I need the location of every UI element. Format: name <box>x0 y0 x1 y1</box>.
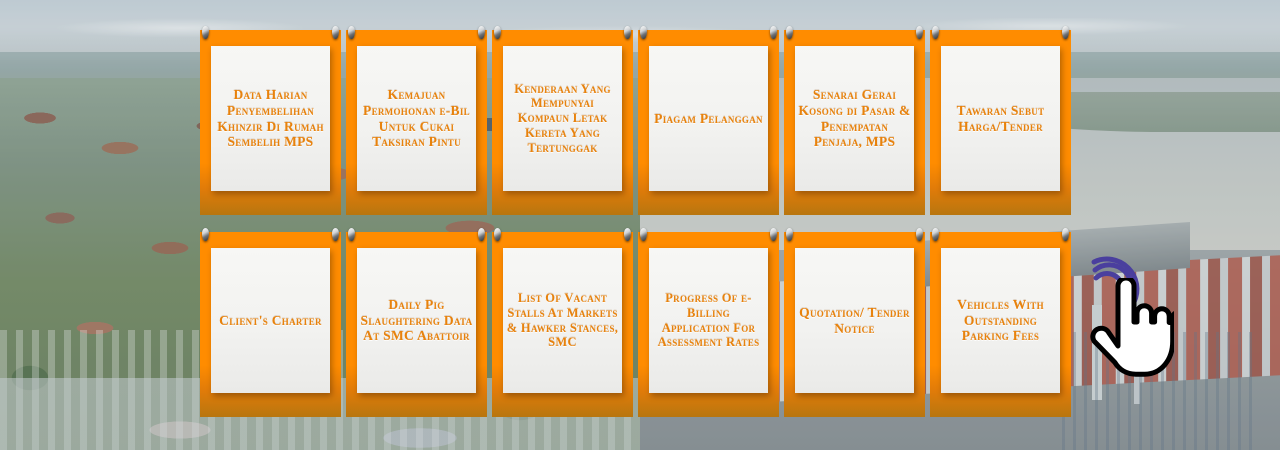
card-title: List Of Vacant Stalls At Markets & Hawke… <box>506 291 619 350</box>
service-card-3[interactable]: Kenderaan Yang Mempunyai Kompaun Letak K… <box>492 30 633 215</box>
pin-icon <box>332 26 339 39</box>
pin-icon <box>932 26 939 39</box>
card-title: Kemajuan Permohonan e-Bil Untuk Cukai Ta… <box>360 87 473 151</box>
pin-icon <box>478 228 485 241</box>
pin-icon <box>624 26 631 39</box>
card-paper: Data Harian Penyembelihan Khinzir Di Rum… <box>211 46 330 191</box>
pin-icon <box>640 228 647 241</box>
service-card-8[interactable]: Daily Pig Slaughtering Data At SMC Abatt… <box>346 232 487 417</box>
service-card-12[interactable]: Vehicles With Outstanding Parking Fees <box>930 232 1071 417</box>
card-paper: Senarai Gerai Kosong di Pasar & Penempat… <box>795 46 914 191</box>
pin-icon <box>332 228 339 241</box>
card-title: Data Harian Penyembelihan Khinzir Di Rum… <box>214 87 327 151</box>
card-paper: Piagam Pelanggan <box>649 46 768 191</box>
pin-icon <box>348 228 355 241</box>
card-title: Kenderaan Yang Mempunyai Kompaun Letak K… <box>506 82 619 156</box>
card-row-2: Client's Charter Daily Pig Slaughtering … <box>200 232 1080 417</box>
pin-icon <box>770 228 777 241</box>
pin-icon <box>478 26 485 39</box>
card-paper: Kenderaan Yang Mempunyai Kompaun Letak K… <box>503 46 622 191</box>
service-card-4[interactable]: Piagam Pelanggan <box>638 30 779 215</box>
service-card-6[interactable]: Tawaran Sebut Harga/Tender <box>930 30 1071 215</box>
pin-icon <box>640 26 647 39</box>
pin-icon <box>494 26 501 39</box>
pin-icon <box>770 26 777 39</box>
service-card-2[interactable]: Kemajuan Permohonan e-Bil Untuk Cukai Ta… <box>346 30 487 215</box>
card-paper: Client's Charter <box>211 248 330 393</box>
pin-icon <box>1062 228 1069 241</box>
card-title: Progress Of e-Billing Application For As… <box>652 291 765 350</box>
card-paper: Quotation/ Tender Notice <box>795 248 914 393</box>
pin-icon <box>202 228 209 241</box>
service-card-5[interactable]: Senarai Gerai Kosong di Pasar & Penempat… <box>784 30 925 215</box>
card-title: Piagam Pelanggan <box>654 111 763 127</box>
card-row-1: Data Harian Penyembelihan Khinzir Di Rum… <box>200 30 1080 215</box>
pin-icon <box>916 228 923 241</box>
service-card-10[interactable]: Progress Of e-Billing Application For As… <box>638 232 779 417</box>
card-title: Daily Pig Slaughtering Data At SMC Abatt… <box>360 297 473 345</box>
card-title: Client's Charter <box>219 313 322 329</box>
card-paper: Vehicles With Outstanding Parking Fees <box>941 248 1060 393</box>
service-card-1[interactable]: Data Harian Penyembelihan Khinzir Di Rum… <box>200 30 341 215</box>
card-paper: Tawaran Sebut Harga/Tender <box>941 46 1060 191</box>
pin-icon <box>624 228 631 241</box>
page-stage: Data Harian Penyembelihan Khinzir Di Rum… <box>0 0 1280 450</box>
pin-icon <box>786 228 793 241</box>
pin-icon <box>916 26 923 39</box>
card-paper: List Of Vacant Stalls At Markets & Hawke… <box>503 248 622 393</box>
card-title: Vehicles With Outstanding Parking Fees <box>944 297 1057 345</box>
card-title: Quotation/ Tender Notice <box>798 305 911 337</box>
card-paper: Progress Of e-Billing Application For As… <box>649 248 768 393</box>
service-card-7[interactable]: Client's Charter <box>200 232 341 417</box>
card-title: Senarai Gerai Kosong di Pasar & Penempat… <box>798 87 911 151</box>
card-paper: Kemajuan Permohonan e-Bil Untuk Cukai Ta… <box>357 46 476 191</box>
pin-icon <box>202 26 209 39</box>
pin-icon <box>786 26 793 39</box>
card-title: Tawaran Sebut Harga/Tender <box>944 103 1057 135</box>
pin-icon <box>932 228 939 241</box>
pin-icon <box>348 26 355 39</box>
pin-icon <box>1062 26 1069 39</box>
service-card-11[interactable]: Quotation/ Tender Notice <box>784 232 925 417</box>
card-paper: Daily Pig Slaughtering Data At SMC Abatt… <box>357 248 476 393</box>
service-card-9[interactable]: List Of Vacant Stalls At Markets & Hawke… <box>492 232 633 417</box>
pin-icon <box>494 228 501 241</box>
service-card-grid: Data Harian Penyembelihan Khinzir Di Rum… <box>200 30 1080 417</box>
